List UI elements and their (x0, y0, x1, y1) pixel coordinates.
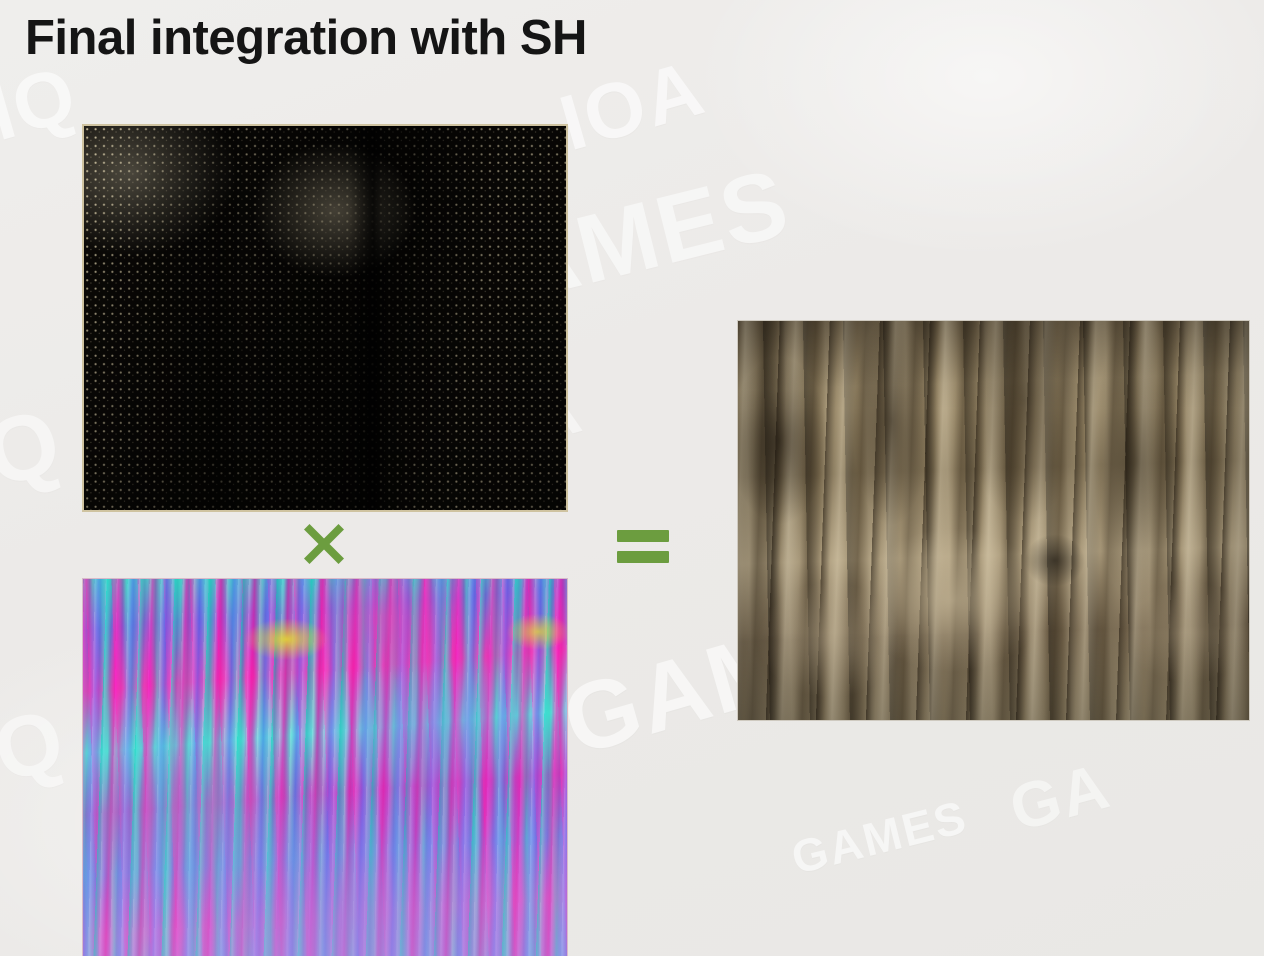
slide-title: Final integration with SH (25, 13, 587, 64)
equals-icon (617, 528, 671, 566)
slide-canvas: IQ IOA GAMES IQ GA GAMES IQ GAMES GA Fin… (0, 0, 1264, 956)
equals-bar-top (617, 530, 669, 542)
background-watermark: IQ (0, 689, 76, 809)
normal-map-veil (83, 579, 567, 956)
background-watermark: GA (1002, 748, 1118, 845)
multiply-icon (300, 520, 348, 568)
probe-grid-streaks (84, 126, 566, 510)
rock-vignette (738, 321, 1249, 720)
background-watermark: GAMES (786, 789, 972, 885)
detail-normal-map-image (82, 578, 568, 956)
sh-probe-grid-image (82, 124, 568, 512)
background-watermark: IQ (0, 388, 74, 517)
equals-bar-bottom (617, 551, 669, 563)
final-render-image (737, 320, 1250, 721)
